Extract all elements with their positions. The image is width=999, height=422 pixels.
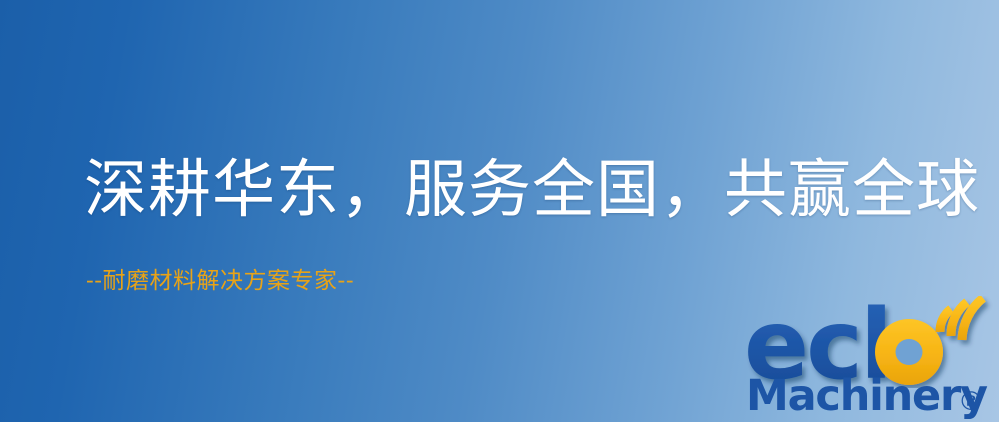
banner-headline: 深耕华东，服务全国，共赢全球: [84, 152, 980, 228]
banner-subtitle: --耐磨材料解决方案专家--: [86, 266, 354, 296]
company-logo: ech Machinery ®: [744, 296, 999, 422]
hero-banner: 深耕华东，服务全国，共赢全球 --耐磨材料解决方案专家--: [0, 0, 999, 422]
logo-machinery-text: Machinery: [746, 371, 988, 421]
logo-machinery-wordmark: Machinery ®: [746, 370, 999, 422]
logo-registered-icon: ®: [958, 387, 984, 417]
logo-signal-arcs: [940, 298, 983, 340]
